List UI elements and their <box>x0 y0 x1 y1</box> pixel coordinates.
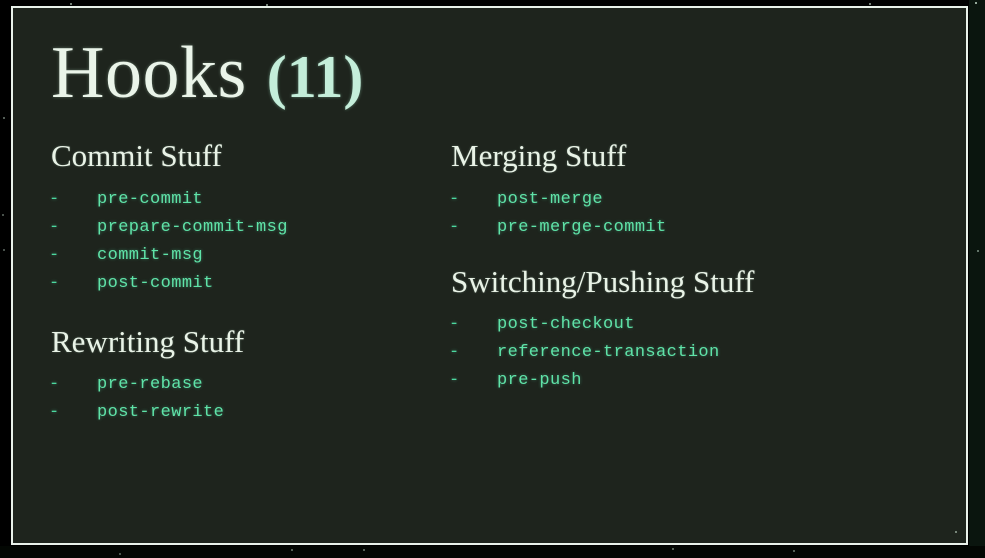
bottom-gutter <box>0 546 985 558</box>
hook-name: commit-msg <box>97 242 203 270</box>
noise-speckle <box>291 549 293 551</box>
hook-name: post-commit <box>97 270 214 298</box>
hook-name: reference-transaction <box>497 339 720 367</box>
bullet-dash-icon: - <box>49 371 97 399</box>
noise-speckle <box>363 549 365 551</box>
noise-speckle <box>266 4 268 6</box>
list-item: - pre-commit <box>49 186 449 214</box>
section-rewriting-stuff: Rewriting Stuff - pre-rebase - post-rewr… <box>49 324 449 428</box>
section-merging-stuff: Merging Stuff - post-merge - pre-merge-c… <box>449 138 919 242</box>
hook-name: post-merge <box>497 186 603 214</box>
hook-name: pre-commit <box>97 186 203 214</box>
slide-content: Hooks (11) Commit Stuff - pre-commit <box>13 8 966 543</box>
bullet-dash-icon: - <box>449 214 497 242</box>
noise-speckle <box>793 550 795 552</box>
bullet-dash-icon: - <box>449 367 497 395</box>
noise-speckle <box>119 553 121 555</box>
bullet-dash-icon: - <box>49 399 97 427</box>
bullet-dash-icon: - <box>49 242 97 270</box>
noise-speckle <box>869 3 871 5</box>
noise-speckle <box>672 548 674 550</box>
hook-name: pre-merge-commit <box>497 214 667 242</box>
list-item: - post-checkout <box>449 311 919 339</box>
section-commit-stuff: Commit Stuff - pre-commit - prepare-comm… <box>49 138 449 298</box>
list-item: - commit-msg <box>49 242 449 270</box>
hook-name: post-checkout <box>497 311 635 339</box>
list-item: - post-merge <box>449 186 919 214</box>
list-item: - post-commit <box>49 270 449 298</box>
presentation-slide: Hooks (11) Commit Stuff - pre-commit <box>11 6 968 545</box>
list-item: - reference-transaction <box>449 339 919 367</box>
noise-speckle <box>70 3 72 5</box>
noise-speckle <box>3 249 5 251</box>
bullet-dash-icon: - <box>49 214 97 242</box>
hook-name: post-rewrite <box>97 399 224 427</box>
left-column: Commit Stuff - pre-commit - prepare-comm… <box>49 138 449 453</box>
slide-title: Hooks (11) <box>51 36 936 132</box>
page-title: Hooks <box>51 36 247 110</box>
hook-list-rewriting-stuff: - pre-rebase - post-rewrite <box>49 371 449 427</box>
section-switching-pushing-stuff: Switching/Pushing Stuff - post-checkout … <box>449 264 919 396</box>
hook-list-switching-pushing-stuff: - post-checkout - reference-transaction … <box>449 311 919 395</box>
list-item: - pre-rebase <box>49 371 449 399</box>
noise-speckle <box>3 117 5 119</box>
bullet-dash-icon: - <box>449 311 497 339</box>
bullet-dash-icon: - <box>449 186 497 214</box>
right-gutter <box>969 0 985 548</box>
noise-speckle <box>955 531 957 533</box>
content-columns: Commit Stuff - pre-commit - prepare-comm… <box>49 138 936 453</box>
right-column: Merging Stuff - post-merge - pre-merge-c… <box>449 138 919 453</box>
hook-count-badge: (11) <box>267 47 364 107</box>
noise-speckle <box>977 250 979 252</box>
hook-name: prepare-commit-msg <box>97 214 288 242</box>
hook-name: pre-push <box>497 367 582 395</box>
section-heading-merging-stuff: Merging Stuff <box>451 138 919 174</box>
section-heading-commit-stuff: Commit Stuff <box>51 138 449 174</box>
bullet-dash-icon: - <box>449 339 497 367</box>
noise-speckle <box>975 2 977 4</box>
bullet-dash-icon: - <box>49 186 97 214</box>
list-item: - post-rewrite <box>49 399 449 427</box>
list-item: - prepare-commit-msg <box>49 214 449 242</box>
section-heading-switching-pushing-stuff: Switching/Pushing Stuff <box>451 264 919 300</box>
list-item: - pre-push <box>449 367 919 395</box>
screen-capture: Hooks (11) Commit Stuff - pre-commit <box>0 0 985 558</box>
noise-speckle <box>2 214 4 216</box>
section-heading-rewriting-stuff: Rewriting Stuff <box>51 324 449 360</box>
bullet-dash-icon: - <box>49 270 97 298</box>
hook-list-commit-stuff: - pre-commit - prepare-commit-msg - comm… <box>49 186 449 298</box>
list-item: - pre-merge-commit <box>449 214 919 242</box>
hook-name: pre-rebase <box>97 371 203 399</box>
hook-list-merging-stuff: - post-merge - pre-merge-commit <box>449 186 919 242</box>
